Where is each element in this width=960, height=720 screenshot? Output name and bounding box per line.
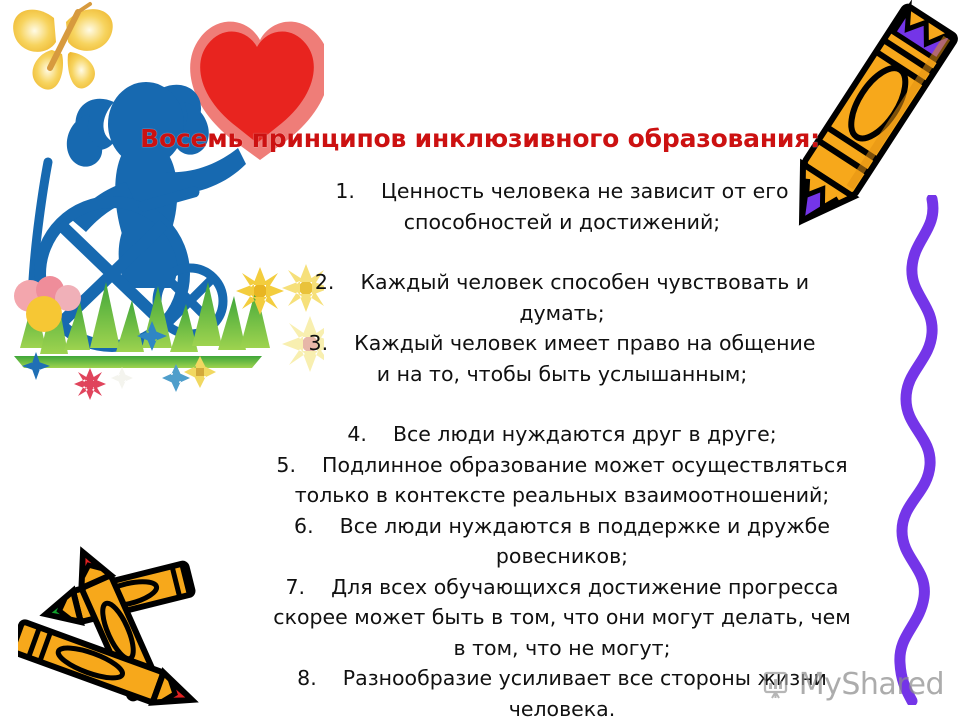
slide-title: Восемь принципов инклюзивного образовани…: [0, 124, 960, 153]
watermark-label: MyShared: [799, 667, 944, 702]
principles-line: скорее может быть в том, что они могут д…: [232, 602, 892, 633]
principles-line: думать;: [232, 298, 892, 329]
principles-line: и на то, чтобы быть услышанным;: [232, 359, 892, 390]
slide-canvas: Восемь принципов инклюзивного образовани…: [0, 0, 960, 720]
principles-line: 4. Все люди нуждаются друг в друге;: [232, 419, 892, 450]
principles-line: в том, что не могут;: [232, 633, 892, 664]
principles-blank-line: [232, 237, 892, 267]
slide-text-content: Восемь принципов инклюзивного образовани…: [0, 0, 960, 720]
principles-line: 6. Все люди нуждаются в поддержке и друж…: [232, 511, 892, 542]
principles-line: способностей и достижений;: [232, 207, 892, 238]
chart-icon: [762, 670, 792, 700]
principles-line: 1. Ценность человека не зависит от его: [232, 176, 892, 207]
principles-line: 3. Каждый человек имеет право на общение: [232, 328, 892, 359]
principles-list: 1. Ценность человека не зависит от егосп…: [232, 176, 892, 720]
principles-line: ровесников;: [232, 541, 892, 572]
principles-blank-line: [232, 389, 892, 419]
principles-line: 7. Для всех обучающихся достижение прогр…: [232, 572, 892, 603]
principles-line: 2. Каждый человек способен чувствовать и: [232, 267, 892, 298]
principles-line: 5. Подлинное образование может осуществл…: [232, 450, 892, 481]
myshared-watermark: MyShared: [762, 667, 944, 702]
principles-line: только в контексте реальных взаимоотноше…: [232, 480, 892, 511]
